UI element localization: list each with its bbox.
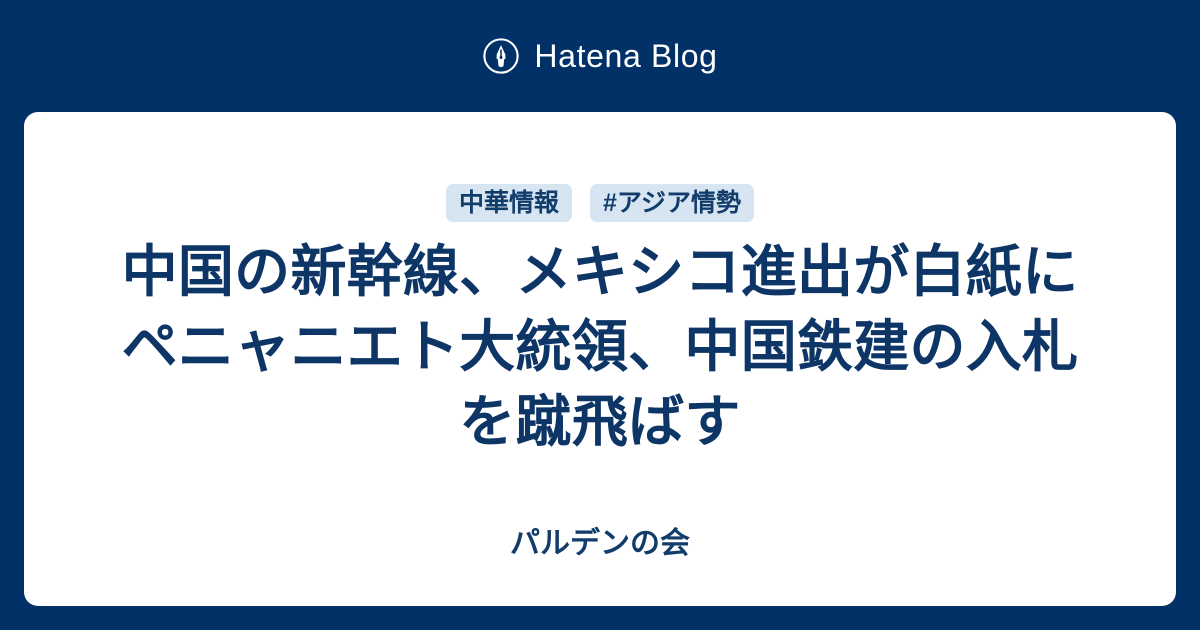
tag-category[interactable]: 中華情報: [446, 184, 572, 222]
tag-list: 中華情報 #アジア情勢: [446, 184, 754, 222]
pen-nib-circle-icon: [482, 37, 520, 75]
hatena-blog-og-card: Hatena Blog 中華情報 #アジア情勢 中国の新幹線、メキシコ進出が白紙…: [0, 0, 1200, 630]
entry-card: 中華情報 #アジア情勢 中国の新幹線、メキシコ進出が白紙に ペニャニエト大統領、…: [24, 112, 1176, 606]
blog-name[interactable]: パルデンの会: [510, 529, 690, 559]
brand-name: Hatena Blog: [534, 40, 717, 72]
entry-title: 中国の新幹線、メキシコ進出が白紙に ペニャニエト大統領、中国鉄建の入札を蹴飛ばす: [100, 234, 1100, 459]
brand-header: Hatena Blog: [0, 0, 1200, 112]
tag-hashtag[interactable]: #アジア情勢: [590, 184, 754, 222]
